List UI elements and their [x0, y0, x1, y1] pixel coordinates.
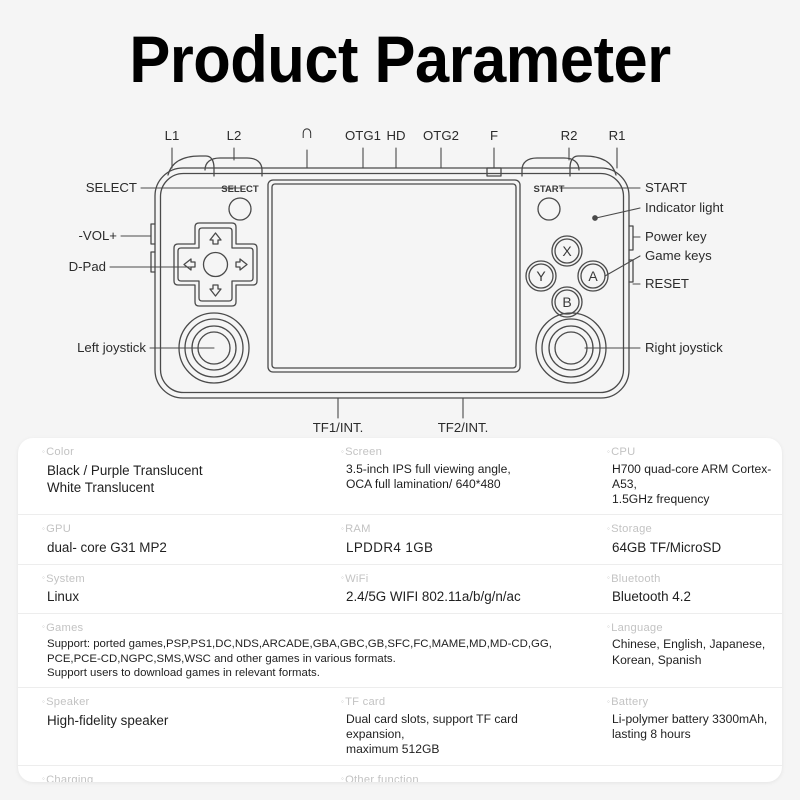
- spec-cell-other-function: ◦Other function Support 2.4G wireless an…: [317, 773, 782, 782]
- spec-value-games: Support: ported games,PSP,PS1,DC,NDS,ARC…: [42, 635, 575, 680]
- spec-row-games: ◦Games Support: ported games,PSP,PS1,DC,…: [18, 614, 782, 689]
- label-r2: R2: [561, 128, 578, 143]
- spec-label-charging: ◦Charging: [42, 773, 309, 782]
- spec-value-color: Black / Purple Translucent White Translu…: [42, 460, 309, 497]
- spec-value-wifi: 2.4/5G WIFI 802.11a/b/g/n/ac: [341, 586, 575, 606]
- device-button-x-text: X: [562, 243, 572, 259]
- start-button: [538, 198, 560, 220]
- spec-cell-color: ◦Color Black / Purple Translucent White …: [18, 445, 317, 507]
- spec-cell-cpu: ◦CPU H700 quad-core ARM Cortex-A53, 1.5G…: [583, 445, 782, 507]
- spec-value-ram: LPDDR4 1GB: [341, 537, 575, 557]
- label-power-key: Power key: [645, 229, 707, 244]
- spec-value-cpu: H700 quad-core ARM Cortex-A53, 1.5GHz fr…: [607, 460, 774, 508]
- leader-gamekeys: [605, 256, 640, 276]
- spec-cell-language: ◦Language Chinese, English, Japanese, Ko…: [583, 621, 782, 681]
- spec-value-battery: Li-polymer battery 3300mAh, lasting 8 ho…: [607, 710, 774, 742]
- bullet-icon: ◦: [607, 447, 610, 456]
- device-select-text: SELECT: [221, 184, 259, 195]
- right-joystick-cap: [555, 332, 587, 364]
- spec-row-system: ◦System Linux ◦WiFi 2.4/5G WIFI 802.11a/…: [18, 565, 782, 614]
- bullet-icon: ◦: [42, 697, 45, 706]
- label-hd: HD: [386, 128, 405, 143]
- label-volume: -VOL+: [79, 228, 117, 243]
- spec-label-screen: ◦Screen: [341, 445, 575, 460]
- label-start: START: [645, 180, 687, 195]
- label-otg2: OTG2: [423, 128, 459, 143]
- device-button-y-text: Y: [536, 268, 546, 284]
- label-r1: R1: [609, 128, 626, 143]
- bullet-icon: ◦: [42, 774, 45, 782]
- headphone-icon: ∩: [300, 122, 314, 144]
- spec-table: ◦Color Black / Purple Translucent White …: [18, 438, 782, 782]
- select-button: [229, 198, 251, 220]
- dpad-left-arrow: [184, 259, 195, 270]
- spec-label-language: ◦Language: [607, 621, 774, 636]
- dpad-center: [204, 253, 228, 277]
- bullet-icon: ◦: [607, 573, 610, 582]
- spec-cell-charging: ◦Charging 5V/1.5A, support C2C charger: [18, 773, 317, 782]
- label-left-joystick: Left joystick: [77, 340, 146, 355]
- label-select: SELECT: [86, 180, 137, 195]
- spec-label-bluetooth: ◦Bluetooth: [607, 572, 774, 587]
- spec-row-color: ◦Color Black / Purple Translucent White …: [18, 438, 782, 515]
- label-tf2: TF2/INT.: [438, 420, 489, 435]
- label-game-keys: Game keys: [645, 248, 712, 263]
- spec-cell-ram: ◦RAM LPDDR4 1GB: [317, 522, 583, 556]
- label-indicator-light: Indicator light: [645, 200, 723, 215]
- label-f: F: [490, 128, 498, 143]
- spec-value-bluetooth: Bluetooth 4.2: [607, 586, 774, 606]
- label-l2: L2: [227, 128, 242, 143]
- f-port: [487, 168, 501, 176]
- spec-cell-games: ◦Games Support: ported games,PSP,PS1,DC,…: [18, 621, 583, 681]
- bullet-icon: ◦: [42, 573, 45, 582]
- screen-inner: [272, 184, 516, 368]
- spec-row-charging: ◦Charging 5V/1.5A, support C2C charger ◦…: [18, 766, 782, 782]
- bullet-icon: ◦: [607, 622, 610, 631]
- spec-value-storage: 64GB TF/MicroSD: [607, 537, 774, 557]
- label-otg1: OTG1: [345, 128, 381, 143]
- spec-label-games: ◦Games: [42, 621, 575, 636]
- device-button-b-text: B: [562, 294, 571, 310]
- spec-cell-tf-card: ◦TF card Dual card slots, support TF car…: [317, 695, 583, 757]
- bullet-icon: ◦: [42, 524, 45, 533]
- spec-value-system: Linux: [42, 586, 309, 606]
- bullet-icon: ◦: [341, 697, 344, 706]
- spec-value-tf-card: Dual card slots, support TF card expansi…: [341, 710, 575, 758]
- spec-label-gpu: ◦GPU: [42, 522, 309, 537]
- spec-cell-gpu: ◦GPU dual- core G31 MP2: [18, 522, 317, 556]
- spec-cell-system: ◦System Linux: [18, 572, 317, 606]
- spec-value-screen: 3.5-inch IPS full viewing angle, OCA ful…: [341, 460, 575, 492]
- spec-cell-storage: ◦Storage 64GB TF/MicroSD: [583, 522, 782, 556]
- spec-label-color: ◦Color: [42, 445, 309, 460]
- spec-label-ram: ◦RAM: [341, 522, 575, 537]
- spec-label-wifi: ◦WiFi: [341, 572, 575, 587]
- spec-cell-screen: ◦Screen 3.5-inch IPS full viewing angle,…: [317, 445, 583, 507]
- leader-indicator: [596, 208, 640, 218]
- bullet-icon: ◦: [341, 447, 344, 456]
- dpad-right-arrow: [236, 259, 247, 270]
- device-button-a-text: A: [588, 268, 598, 284]
- spec-cell-battery: ◦Battery Li-polymer battery 3300mAh, las…: [583, 695, 782, 757]
- dpad-inner: [178, 228, 253, 301]
- spec-value-speaker: High-fidelity speaker: [42, 710, 309, 730]
- spec-row-gpu: ◦GPU dual- core G31 MP2 ◦RAM LPDDR4 1GB …: [18, 515, 782, 564]
- screen-outer: [268, 180, 520, 372]
- spec-value-language: Chinese, English, Japanese, Korean, Span…: [607, 635, 774, 667]
- bullet-icon: ◦: [341, 573, 344, 582]
- bullet-icon: ◦: [42, 622, 45, 631]
- dpad-outer: [174, 223, 257, 306]
- spec-cell-bluetooth: ◦Bluetooth Bluetooth 4.2: [583, 572, 782, 606]
- spec-label-storage: ◦Storage: [607, 522, 774, 537]
- spec-label-tf-card: ◦TF card: [341, 695, 575, 710]
- bullet-icon: ◦: [341, 524, 344, 533]
- label-dpad: D-Pad: [69, 259, 106, 274]
- label-tf1: TF1/INT.: [313, 420, 364, 435]
- spec-cell-wifi: ◦WiFi 2.4/5G WIFI 802.11a/b/g/n/ac: [317, 572, 583, 606]
- page-title: Product Parameter: [28, 26, 772, 92]
- device-diagram: SELECT START X Y A B L1 L2 ∩ OTG1 HD OTG…: [0, 120, 800, 430]
- device-illustration: SELECT START X Y A B: [0, 120, 800, 430]
- label-reset: RESET: [645, 276, 689, 291]
- spec-cell-speaker: ◦Speaker High-fidelity speaker: [18, 695, 317, 757]
- bullet-icon: ◦: [341, 774, 344, 782]
- dpad-up-arrow: [210, 233, 221, 244]
- spec-label-speaker: ◦Speaker: [42, 695, 309, 710]
- dpad-down-arrow: [210, 285, 221, 296]
- spec-label-cpu: ◦CPU: [607, 445, 774, 460]
- spec-label-system: ◦System: [42, 572, 309, 587]
- spec-row-speaker: ◦Speaker High-fidelity speaker ◦TF card …: [18, 688, 782, 765]
- bullet-icon: ◦: [607, 524, 610, 533]
- spec-value-gpu: dual- core G31 MP2: [42, 537, 309, 557]
- label-right-joystick: Right joystick: [645, 340, 723, 355]
- bullet-icon: ◦: [42, 447, 45, 456]
- spec-label-battery: ◦Battery: [607, 695, 774, 710]
- label-l1: L1: [165, 128, 180, 143]
- spec-label-other-function: ◦Other function: [341, 773, 774, 782]
- bullet-icon: ◦: [607, 697, 610, 706]
- device-start-text: START: [534, 184, 565, 195]
